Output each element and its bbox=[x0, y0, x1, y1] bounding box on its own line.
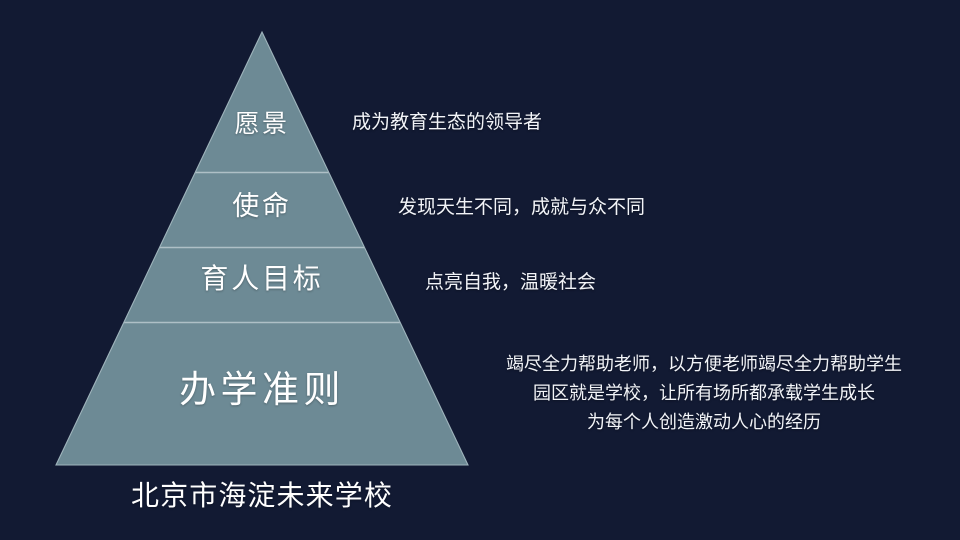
description-principles-line-2: 园区就是学校，让所有场所都承载学生成长 bbox=[462, 379, 946, 408]
description-principles-line-1: 竭尽全力帮助老师，以方便老师竭尽全力帮助学生 bbox=[462, 350, 946, 379]
description-principles-line-3: 为每个人创造激动人心的经历 bbox=[462, 408, 946, 437]
description-principles: 竭尽全力帮助老师，以方便老师竭尽全力帮助学生 园区就是学校，让所有场所都承载学生… bbox=[462, 350, 946, 437]
description-mission: 发现天生不同，成就与众不同 bbox=[398, 194, 645, 223]
description-goal: 点亮自我，温暖社会 bbox=[425, 269, 596, 298]
pyramid-tier-vision-shape[interactable] bbox=[195, 32, 329, 172]
pyramid-tier-label-principles: 办学准则 bbox=[0, 372, 524, 409]
school-name: 北京市海淀未来学校 bbox=[56, 474, 468, 514]
description-vision: 成为教育生态的领导者 bbox=[352, 109, 542, 138]
slide-canvas: 愿景 使命 育人目标 办学准则 成为教育生态的领导者 发现天生不同，成就与众不同… bbox=[0, 0, 960, 540]
